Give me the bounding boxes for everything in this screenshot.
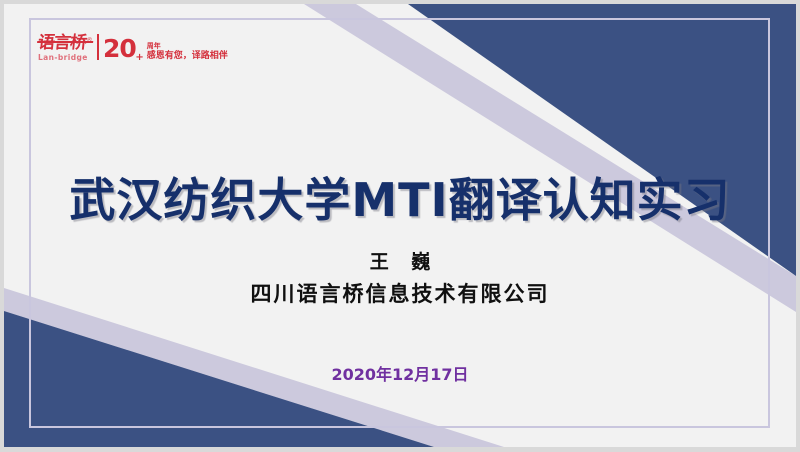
presentation-slide: 语言桥® Lan-bridge 20 + 周年 感恩有您，译路相伴 武汉纺织大学… xyxy=(0,0,800,452)
slide-title: 武汉纺织大学MTI翻译认知实习 xyxy=(4,164,796,230)
logo-anniversary-plus: + xyxy=(135,53,142,63)
logo-anniversary-number-wrapper: 20 + xyxy=(103,37,136,61)
logo-strike-rule xyxy=(37,41,93,43)
slide-canvas: 语言桥® Lan-bridge 20 + 周年 感恩有您，译路相伴 武汉纺织大学… xyxy=(4,4,796,447)
logo-divider-rule xyxy=(97,34,99,60)
logo-brand-en: Lan-bridge xyxy=(38,54,88,62)
company-logo: 语言桥® Lan-bridge 20 + 周年 感恩有您，译路相伴 xyxy=(38,31,228,61)
presenter-organization: 四川语言桥信息技术有限公司 xyxy=(4,278,796,308)
logo-anniversary-unit: 周年 xyxy=(147,43,228,50)
logo-tagline: 感恩有您，译路相伴 xyxy=(147,52,228,61)
logo-brand-cn-wrapper: 语言桥® xyxy=(37,35,92,52)
slide-date: 2020年12月17日 xyxy=(4,361,796,385)
logo-text-block: 周年 感恩有您，译路相伴 xyxy=(147,43,228,61)
presenter-name: 王 巍 xyxy=(4,247,796,274)
top-right-blue-triangle xyxy=(408,4,796,276)
logo-brandmark: 语言桥® Lan-bridge xyxy=(38,35,91,62)
logo-anniversary-number: 20 xyxy=(103,34,136,63)
